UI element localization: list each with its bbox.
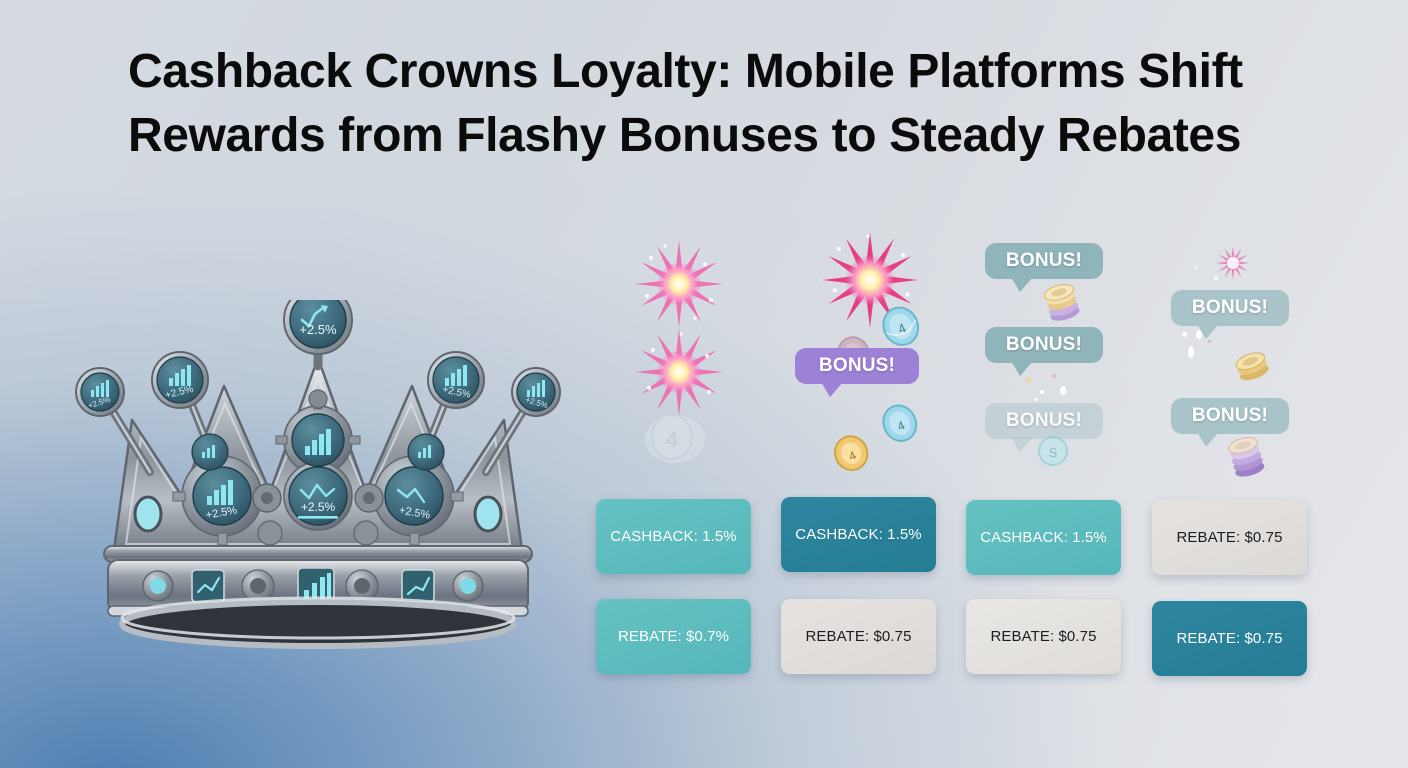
reward-card[interactable]: REBATE: $0.75 (781, 599, 936, 674)
reward-card-label: REBATE: $0.75 (805, 628, 911, 645)
svg-text:4: 4 (895, 418, 907, 434)
sparkle-dot-icon (1194, 266, 1197, 269)
reward-card-label: REBATE: $0.7% (618, 628, 729, 645)
reward-card[interactable]: CASHBACK: 1.5% (781, 497, 936, 572)
starburst-icon (818, 228, 922, 332)
coin-pair-icon (830, 332, 878, 376)
confetti-icon (1020, 368, 1080, 404)
coin-pair-icon: 4 (872, 398, 930, 454)
coin-stack-gold-icon (1230, 345, 1274, 387)
faded-coin-icon: 4 (640, 405, 710, 467)
reward-card-label: CASHBACK: 1.5% (795, 526, 921, 543)
crown-svg: +2.5% +2.5% +2.5% (62, 300, 574, 652)
svg-text:4: 4 (847, 448, 859, 464)
reward-card-label: REBATE: $0.75 (1176, 529, 1282, 546)
reward-card[interactable]: REBATE: $0.7% (596, 599, 751, 674)
coin-pair-icon: 4 (826, 430, 878, 480)
starburst-icon (629, 234, 729, 334)
infographic-canvas: Cashback Crowns Loyalty: Mobile Platform… (0, 0, 1408, 768)
reward-card[interactable]: REBATE: $0.75 (1152, 601, 1307, 676)
reward-card[interactable]: REBATE: $0.75 (966, 599, 1121, 674)
coin-stack-purple-icon (1222, 428, 1270, 484)
coin-pair-icon: 4 (872, 300, 932, 358)
reward-card-label: REBATE: $0.75 (1176, 630, 1282, 647)
svg-text:+2.5%: +2.5% (301, 500, 336, 514)
starburst-icon (629, 322, 729, 422)
mini-sparkle-icon (1213, 243, 1253, 283)
crown-top-medallion: +2.5% (284, 300, 352, 354)
bonus-bubble[interactable]: BONUS! (1171, 398, 1289, 434)
reward-card[interactable]: CASHBACK: 1.5% (966, 500, 1121, 575)
bonus-bubble[interactable]: BONUS! (795, 348, 919, 384)
gear-crown-illustration: +2.5% +2.5% +2.5% (62, 300, 574, 652)
sparkle-dot-icon (1196, 290, 1201, 295)
reward-card-label: CASHBACK: 1.5% (610, 528, 736, 545)
reward-card[interactable]: REBATE: $0.75 (1152, 500, 1307, 575)
page-title-line-2: Rewards from Flashy Bonuses to Steady Re… (128, 104, 1318, 168)
reward-card[interactable]: CASHBACK: 1.5% (596, 499, 751, 574)
svg-text:+2.5%: +2.5% (299, 322, 337, 337)
page-title-line-1: Cashback Crowns Loyalty: Mobile Platform… (128, 40, 1318, 104)
bonus-bubble[interactable]: BONUS! (985, 403, 1103, 439)
coin-disc-icon: S (1036, 434, 1070, 468)
svg-text:4: 4 (666, 427, 678, 452)
svg-text:4: 4 (895, 320, 908, 337)
reward-card-label: REBATE: $0.75 (990, 628, 1096, 645)
sparkle-dot-icon (1214, 276, 1218, 280)
bonus-bubble[interactable]: BONUS! (985, 243, 1103, 279)
coin-stack-gold-icon (1040, 278, 1084, 328)
confetti-icon (1180, 328, 1226, 362)
bonus-bubble[interactable]: BONUS! (1171, 290, 1289, 326)
bonus-bubble[interactable]: BONUS! (985, 327, 1103, 363)
reward-card-label: CASHBACK: 1.5% (980, 529, 1106, 546)
page-title: Cashback Crowns Loyalty: Mobile Platform… (128, 40, 1318, 168)
svg-text:S: S (1049, 445, 1058, 460)
